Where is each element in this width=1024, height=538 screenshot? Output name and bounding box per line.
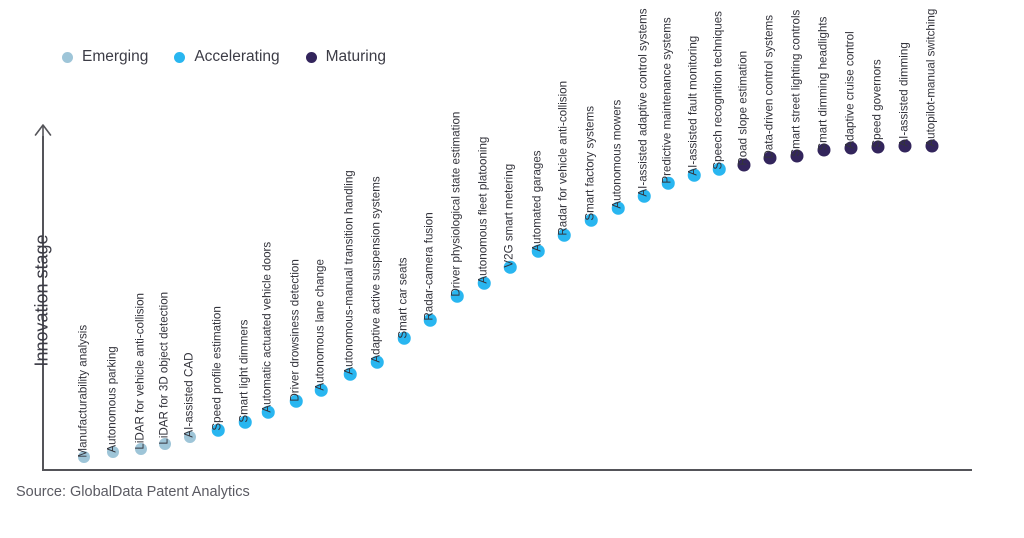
data-point-label: AI-assisted fault monitoring [687, 36, 699, 176]
data-point-label: Speed governors [871, 59, 883, 147]
data-point-label: Radar for vehicle anti-collision [557, 81, 569, 236]
data-point-label: Manufacturability analysis [77, 325, 89, 458]
data-point-label: V2G smart metering [503, 164, 515, 268]
data-point-label: Smart dimming headlights [817, 17, 829, 151]
data-point-label: Smart street lighting controls [790, 10, 802, 157]
data-point-label: Autonomous fleet platooning [477, 137, 489, 284]
data-point-label: Automated garages [531, 150, 543, 251]
data-point-label: Adaptive active suspension systems [370, 176, 382, 362]
data-point-label: Smart car seats [397, 257, 409, 338]
data-point-label: Predictive maintenance systems [661, 17, 673, 183]
data-point-label: Smart light dimmers [238, 320, 250, 423]
data-point-label: AI-assisted dimming [898, 42, 910, 146]
data-point-label: Autopilot-manual switching [925, 9, 937, 147]
data-point-label: LiDAR for 3D object detection [158, 292, 170, 445]
data-point-label: Driver drowsiness detection [289, 259, 301, 401]
data-point-label: Automatic actuated vehicle doors [261, 242, 273, 413]
data-point-label: AI-assisted CAD [183, 353, 195, 438]
chart-page: EmergingAcceleratingMaturing Innovation … [0, 0, 1024, 538]
data-point-label: Smart factory systems [584, 106, 596, 221]
data-point-label: Data-driven control systems [763, 15, 775, 159]
data-point-label: Autonomous-manual transition handling [343, 170, 355, 374]
data-point-label: Autonomous mowers [611, 100, 623, 209]
data-point-label: Speech recognition techniques [712, 11, 724, 170]
data-point-label: Radar-camera fusion [423, 212, 435, 320]
data-point-label: Driver physiological state estimation [450, 112, 462, 297]
scatter-plot-area: Manufacturability analysisAutonomous par… [0, 0, 1024, 538]
data-point-label: Speed profile estimation [211, 306, 223, 430]
data-point-label: Autonomous lane change [314, 259, 326, 391]
data-point-label: Road slope estimation [737, 51, 749, 166]
data-point-label: Autonomous parking [106, 346, 118, 452]
data-point-label: Adaptive cruise control [844, 31, 856, 148]
source-caption: Source: GlobalData Patent Analytics [16, 484, 250, 500]
data-point-label: LiDAR for vehicle anti-collision [134, 293, 146, 450]
data-point-label: AI-assisted adaptive control systems [637, 8, 649, 196]
